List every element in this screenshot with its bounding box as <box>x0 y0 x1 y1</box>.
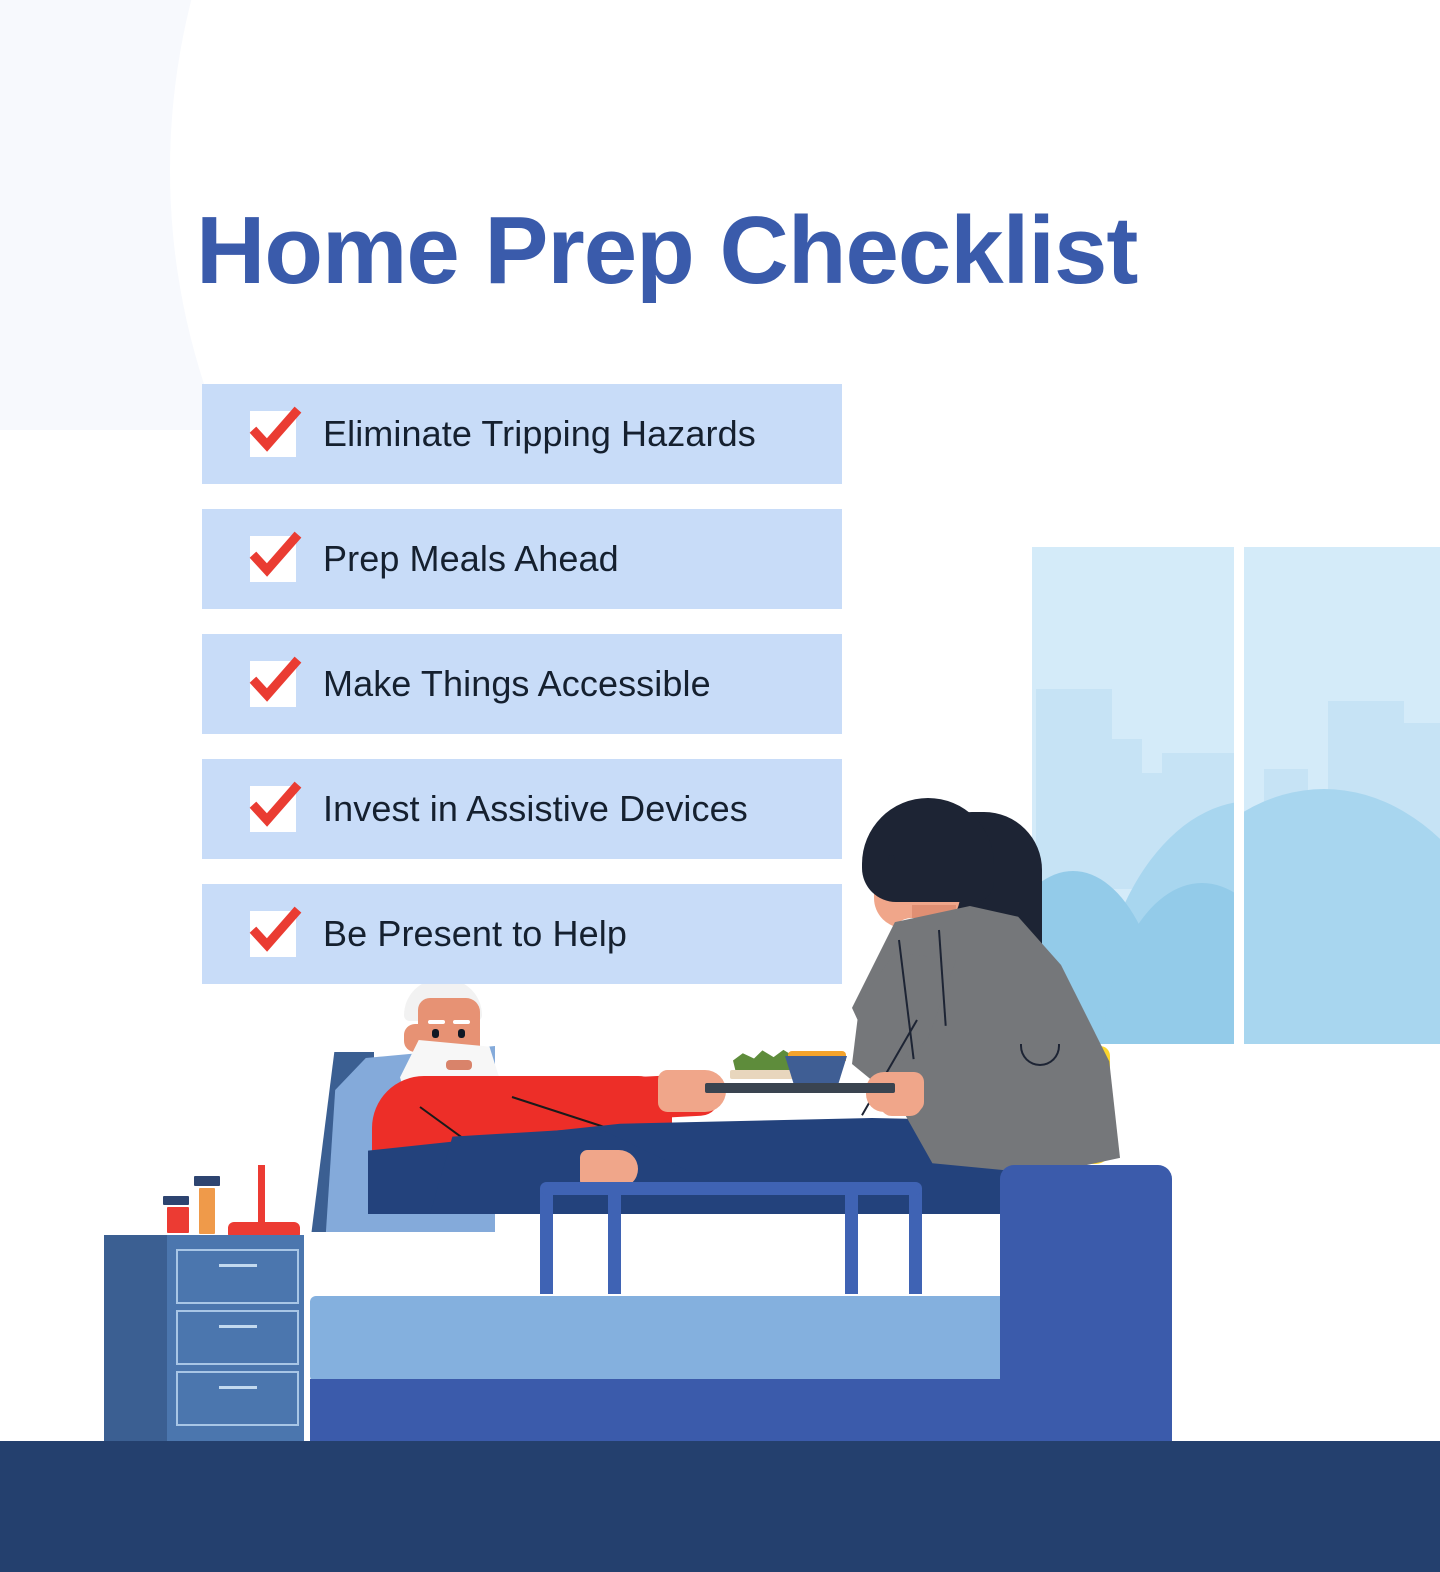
drawer-handle <box>219 1325 257 1328</box>
infographic-canvas: Home Prep Checklist Eliminate Tripping H… <box>0 0 1440 1572</box>
drawer-handle <box>219 1264 257 1267</box>
hill-far <box>1244 789 1440 1044</box>
medicine-bottle-cap <box>194 1176 220 1186</box>
checklist-item-label: Make Things Accessible <box>323 663 711 705</box>
patient-eye <box>458 1029 465 1038</box>
bed-frame-base <box>310 1379 1172 1443</box>
bed-rail-leg <box>845 1188 858 1294</box>
bed-side-rail <box>540 1182 922 1195</box>
patient-eye <box>432 1029 439 1038</box>
meal-tray <box>705 1083 895 1093</box>
checklist-row[interactable]: Be Present to Help <box>202 884 842 984</box>
patient-eyebrow <box>453 1020 470 1024</box>
bed-rail-leg <box>540 1188 553 1294</box>
nightstand-drawer[interactable] <box>176 1310 299 1365</box>
checklist-item-label: Prep Meals Ahead <box>323 538 619 580</box>
checklist: Eliminate Tripping Hazards Prep Meals Ah… <box>202 384 842 1009</box>
lamp-stem <box>258 1165 265 1229</box>
food-plate <box>730 1070 796 1079</box>
checklist-row[interactable]: Eliminate Tripping Hazards <box>202 384 842 484</box>
check-mark-icon <box>246 528 304 586</box>
check-mark-icon <box>246 653 304 711</box>
nightstand-drawer[interactable] <box>176 1249 299 1304</box>
nightstand-drawer[interactable] <box>176 1371 299 1426</box>
checklist-item-label: Be Present to Help <box>323 913 627 955</box>
window <box>1032 547 1440 1044</box>
drawer-handle <box>219 1386 257 1389</box>
checklist-row[interactable]: Invest in Assistive Devices <box>202 759 842 859</box>
medicine-bottle-red <box>167 1207 189 1233</box>
bed-rail-leg <box>909 1188 922 1294</box>
checklist-item-label: Invest in Assistive Devices <box>323 788 748 830</box>
checkbox[interactable] <box>250 661 296 707</box>
checkbox[interactable] <box>250 536 296 582</box>
checklist-row[interactable]: Prep Meals Ahead <box>202 509 842 609</box>
check-mark-icon <box>246 903 304 961</box>
checklist-item-label: Eliminate Tripping Hazards <box>323 413 756 455</box>
check-mark-icon <box>246 403 304 461</box>
bed-rail-leg <box>608 1188 621 1294</box>
checklist-row[interactable]: Make Things Accessible <box>202 634 842 734</box>
patient-eyebrow <box>428 1020 445 1024</box>
checkbox[interactable] <box>250 911 296 957</box>
window-pane-right <box>1244 547 1440 1044</box>
food-bowl <box>785 1056 847 1084</box>
lamp-base <box>228 1222 300 1236</box>
patient-mouth <box>446 1060 472 1070</box>
checkbox[interactable] <box>250 786 296 832</box>
checkbox[interactable] <box>250 411 296 457</box>
bed-sheet <box>310 1232 1120 1298</box>
page-title: Home Prep Checklist <box>196 198 1137 304</box>
medicine-bottle-orange <box>199 1188 215 1234</box>
bed-mattress <box>310 1296 1120 1382</box>
floor-band <box>0 1441 1440 1572</box>
caregiver-eye <box>888 855 895 863</box>
check-mark-icon <box>246 778 304 836</box>
nightstand-side-panel <box>104 1235 167 1443</box>
medicine-bottle-cap <box>163 1196 189 1205</box>
